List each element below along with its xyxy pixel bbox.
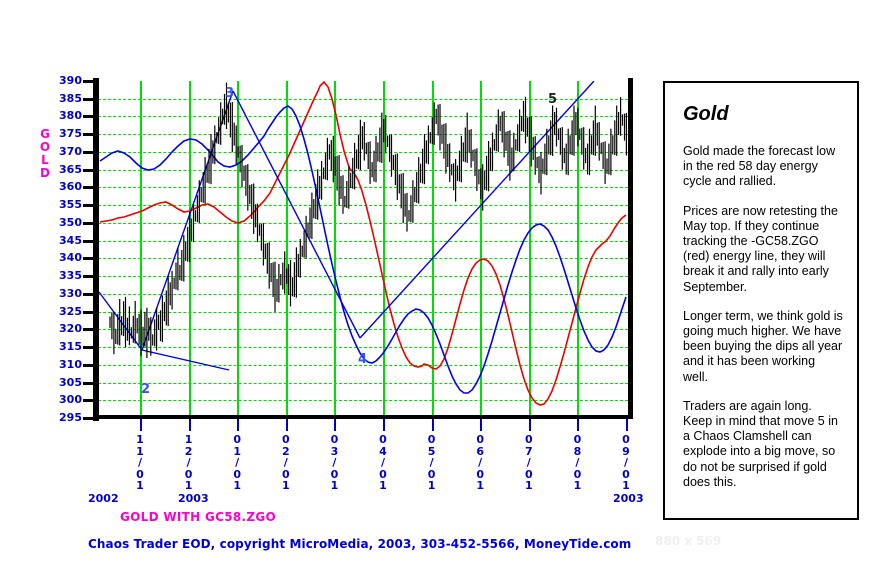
y-axis-tick xyxy=(83,328,95,331)
x-axis-tick-label-char: / xyxy=(181,457,197,469)
x-axis-tick-label-char: / xyxy=(521,457,537,469)
y-axis-tick-label: 340 xyxy=(52,252,82,263)
wave-label-2: 2 xyxy=(141,382,150,397)
y-axis-line xyxy=(93,78,99,421)
year-label-mid: 2003 xyxy=(178,492,209,505)
y-axis-tick xyxy=(83,115,95,118)
y-axis-tick-label: 310 xyxy=(52,359,82,370)
y-axis-tick-label: 380 xyxy=(52,110,82,121)
year-label-right: 2003 xyxy=(613,492,644,505)
x-axis-tick-label-char: 1 xyxy=(278,480,294,492)
x-axis-tick-label-char: 0 xyxy=(278,434,294,446)
x-axis-tick-label: 08/01 xyxy=(569,434,585,492)
x-axis-tick-label-char: 0 xyxy=(472,434,488,446)
panel-paragraph-1: Gold made the forecast low in the red 58… xyxy=(683,144,843,190)
panel-paragraph-4: Traders are again long. Keep in mind tha… xyxy=(683,399,843,490)
wave-label-3: 3 xyxy=(225,86,234,101)
x-axis-tick-label: 09/01 xyxy=(618,434,634,492)
x-axis-tick-label-char: 1 xyxy=(326,480,342,492)
x-axis-tick-label-char: 1 xyxy=(229,480,245,492)
x-axis-tick xyxy=(383,419,385,431)
y-axis-tick xyxy=(83,311,95,314)
panel-title: Gold xyxy=(683,103,843,126)
x-axis-tick xyxy=(140,419,142,431)
x-axis-tick-label-char: / xyxy=(326,457,342,469)
y-axis-tick xyxy=(83,417,95,420)
y-axis-tick xyxy=(83,240,95,243)
y-axis-tick xyxy=(83,364,95,367)
clamshell-trendline-4-5 xyxy=(360,81,594,338)
x-axis-line xyxy=(93,415,633,419)
x-axis-tick-label-char: 1 xyxy=(375,480,391,492)
y-axis-tick xyxy=(83,80,95,83)
y-axis-tick-label: 365 xyxy=(52,164,82,175)
x-axis-tick-label-char: / xyxy=(569,457,585,469)
x-axis-tick-label: 06/01 xyxy=(472,434,488,492)
copyright-footer: Chaos Trader EOD, copyright MicroMedia, … xyxy=(88,537,631,551)
x-axis-tick-label-char: 0 xyxy=(375,434,391,446)
x-axis-tick xyxy=(237,419,239,431)
y-axis-tick xyxy=(83,222,95,225)
x-axis-tick xyxy=(189,419,191,431)
commentary-panel: Gold Gold made the forecast low in the r… xyxy=(663,81,859,520)
x-axis-tick-label-char: / xyxy=(375,457,391,469)
y-axis-tick xyxy=(83,186,95,189)
y-axis-tick-label: 335 xyxy=(52,270,82,281)
chart-series-svg xyxy=(98,81,628,418)
x-axis-tick-label-char: 1 xyxy=(569,480,585,492)
x-axis-tick xyxy=(577,419,579,431)
y-axis-tick xyxy=(83,382,95,385)
x-axis-tick-label: 02/01 xyxy=(278,434,294,492)
price-chart-plot[interactable] xyxy=(98,81,628,418)
right-axis-line xyxy=(628,78,633,419)
x-axis-tick-label: 04/01 xyxy=(375,434,391,492)
chart-subtitle: GOLD WITH GC58.ZGO xyxy=(120,510,276,524)
x-axis-tick-label-char: 1 xyxy=(132,480,148,492)
y-axis-title-letter: D xyxy=(38,167,52,180)
x-axis-tick-label-char: 1 xyxy=(132,434,148,446)
x-axis-tick-label-char: 0 xyxy=(229,434,245,446)
y-axis-tick-label: 295 xyxy=(52,412,82,423)
x-axis-tick xyxy=(480,419,482,431)
x-axis-tick-label-char: 1 xyxy=(618,480,634,492)
panel-paragraph-3: Longer term, we think gold is going much… xyxy=(683,309,843,385)
y-axis-title-gold: GOLD xyxy=(38,128,52,180)
panel-paragraph-2: Prices are now retesting the May top. If… xyxy=(683,204,843,295)
dimension-watermark: 880 x 569 xyxy=(655,534,721,548)
x-axis-tick-label: 07/01 xyxy=(521,434,537,492)
y-axis-tick-label: 375 xyxy=(52,128,82,139)
y-axis-tick-label: 350 xyxy=(52,217,82,228)
x-axis-tick-label: 05/01 xyxy=(424,434,440,492)
y-axis-tick-label: 390 xyxy=(52,75,82,86)
x-axis-tick-label-char: 0 xyxy=(618,434,634,446)
x-axis-tick xyxy=(529,419,531,431)
x-axis-tick-label-char: 1 xyxy=(181,480,197,492)
x-axis-tick-label-char: / xyxy=(618,457,634,469)
x-axis-tick-label-char: / xyxy=(424,457,440,469)
y-axis-tick xyxy=(83,399,95,402)
x-axis-tick-label-char: 0 xyxy=(326,434,342,446)
wave-label-5: 5 xyxy=(548,92,557,107)
x-axis-tick-label: 11/01 xyxy=(132,434,148,492)
x-axis-tick-label: 03/01 xyxy=(326,434,342,492)
x-axis-tick-label-char: 0 xyxy=(569,434,585,446)
y-axis-tick-label: 360 xyxy=(52,181,82,192)
y-axis-tick xyxy=(83,275,95,278)
x-axis-tick-label: 12/01 xyxy=(181,434,197,492)
y-axis-tick xyxy=(83,169,95,172)
y-axis-tick xyxy=(83,257,95,260)
x-axis-tick-label-char: / xyxy=(229,457,245,469)
x-axis-tick xyxy=(432,419,434,431)
x-axis-tick-label-char: 0 xyxy=(521,434,537,446)
clamshell-trendline-2-3 xyxy=(142,91,233,350)
y-axis-tick xyxy=(83,133,95,136)
x-axis-tick-label-char: 0 xyxy=(424,434,440,446)
y-axis-tick xyxy=(83,151,95,154)
x-axis-tick-label-char: 1 xyxy=(472,480,488,492)
x-axis-tick xyxy=(286,419,288,431)
screenshot-root: 3903853803753703653603553503453403353303… xyxy=(0,0,880,569)
y-axis-tick-label: 370 xyxy=(52,146,82,157)
x-axis-tick-label-char: / xyxy=(132,457,148,469)
y-axis-tick xyxy=(83,293,95,296)
x-axis-tick xyxy=(334,419,336,431)
y-axis-tick-label: 320 xyxy=(52,323,82,334)
y-axis-tick-label: 385 xyxy=(52,93,82,104)
y-axis-tick-label: 315 xyxy=(52,341,82,352)
y-axis-tick-label: 300 xyxy=(52,394,82,405)
wave-label-4: 4 xyxy=(358,352,367,367)
y-axis-tick xyxy=(83,98,95,101)
y-axis-tick-label: 305 xyxy=(52,377,82,388)
year-label-left: 2002 xyxy=(88,492,119,505)
x-axis-tick-label: 01/01 xyxy=(229,434,245,492)
y-axis-tick-label: 325 xyxy=(52,306,82,317)
x-axis-tick-label-char: / xyxy=(278,457,294,469)
x-axis-tick-label-char: 1 xyxy=(424,480,440,492)
y-axis-tick-label: 355 xyxy=(52,199,82,210)
x-axis-tick-label-char: 1 xyxy=(521,480,537,492)
x-axis-tick-label-char: / xyxy=(472,457,488,469)
y-axis-tick-label: 345 xyxy=(52,235,82,246)
x-axis-tick-label-char: 1 xyxy=(181,434,197,446)
x-axis-tick xyxy=(626,419,628,431)
y-axis-tick-label: 330 xyxy=(52,288,82,299)
y-axis-tick xyxy=(83,346,95,349)
y-axis-tick xyxy=(83,204,95,207)
